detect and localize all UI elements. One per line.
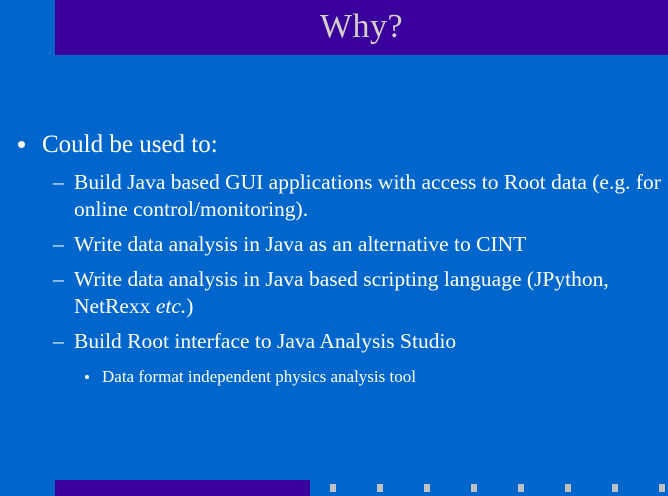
en-dash-icon: – [53,231,74,258]
bullet-level1: Could be used to: [0,129,668,161]
footer-dot-icon [518,484,524,492]
footer-dot-row [330,484,668,496]
en-dash-icon: – [53,328,74,355]
slide-canvas: Why? Could be used to: – Build Java base… [0,0,668,496]
footer-dot-icon [330,484,336,492]
footer-dot-icon [471,484,477,492]
bullet-level3-label-1: Data format independent physics analysis… [102,366,668,388]
footer-dot-icon [377,484,383,492]
bullet-level2-item-1: – Build Java based GUI applications with… [0,169,668,223]
bullet-level2-label-3-part-b: ) [186,294,193,318]
slide-body: Could be used to: – Build Java based GUI… [0,55,668,465]
bullet-level2-item-3: – Write data analysis in Java based scri… [0,266,668,320]
bullet-level2-item-2: – Write data analysis in Java as an alte… [0,231,668,258]
title-banner: Why? [55,0,668,55]
bullet-level2-label-3-italic: etc. [156,294,186,318]
bullet-level3-item-1: Data format independent physics analysis… [0,366,668,388]
footer-dot-icon [612,484,618,492]
bullet-level2-label-2: Write data analysis in Java as an altern… [74,231,664,258]
page-title: Why? [55,0,668,55]
bullet-disc-icon [14,129,42,161]
bullet-level2-label-3: Write data analysis in Java based script… [74,266,664,320]
bullet-level2-item-4: – Build Root interface to Java Analysis … [0,328,668,355]
bullet-disc-icon [85,366,102,388]
bullet-level2-label-3-part-a: Write data analysis in Java based script… [74,267,609,318]
footer-dot-icon [659,484,665,492]
bullet-level2-label-1: Build Java based GUI applications with a… [74,169,664,223]
bullet-level1-label: Could be used to: [42,129,668,161]
bullet-level2-label-4: Build Root interface to Java Analysis St… [74,328,664,355]
en-dash-icon: – [53,169,74,196]
footer-dot-icon [424,484,430,492]
footer-dot-icon [565,484,571,492]
en-dash-icon: – [53,266,74,293]
footer-accent-bar [55,480,310,496]
